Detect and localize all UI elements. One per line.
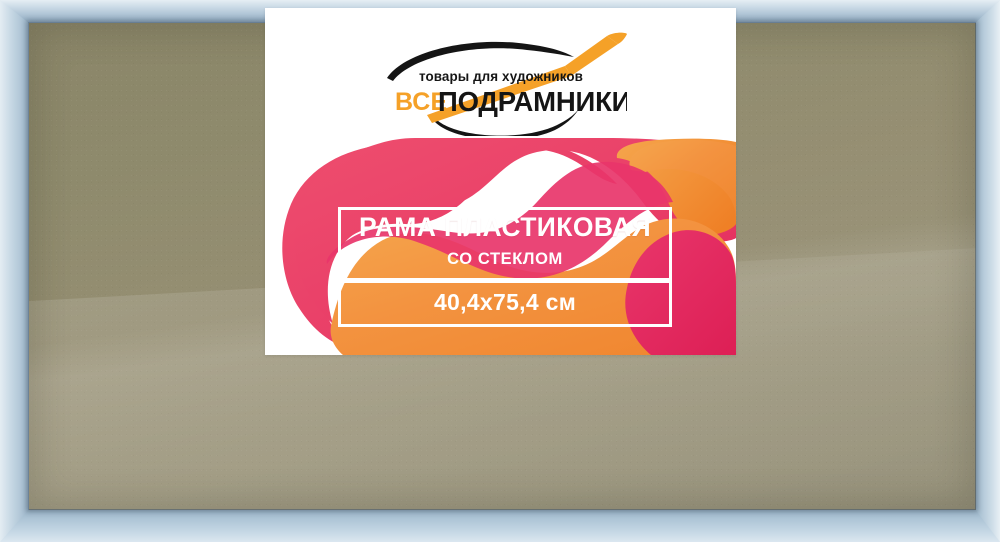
logo-tagline: товары для художников xyxy=(419,69,583,84)
product-photo: товары для художников все ПОДРАМНИКИ xyxy=(0,0,1000,542)
size-text: 40,4х75,4 см xyxy=(338,291,672,314)
product-label-card: товары для художников все ПОДРАМНИКИ xyxy=(265,8,736,355)
frame-bevel-bottom xyxy=(0,508,1000,542)
frame-bevel-left xyxy=(0,0,30,542)
headline-text: РАМА ПЛАСТИКОВАЯ xyxy=(338,214,672,241)
brand-logo: товары для художников все ПОДРАМНИКИ xyxy=(265,8,736,140)
frame-bevel-right xyxy=(974,0,1000,542)
subhead-text: СО СТЕКЛОМ xyxy=(338,251,672,268)
logo-artwork: товары для художников все ПОДРАМНИКИ xyxy=(375,32,627,136)
logo-brand-dark: ПОДРАМНИКИ xyxy=(438,86,627,117)
